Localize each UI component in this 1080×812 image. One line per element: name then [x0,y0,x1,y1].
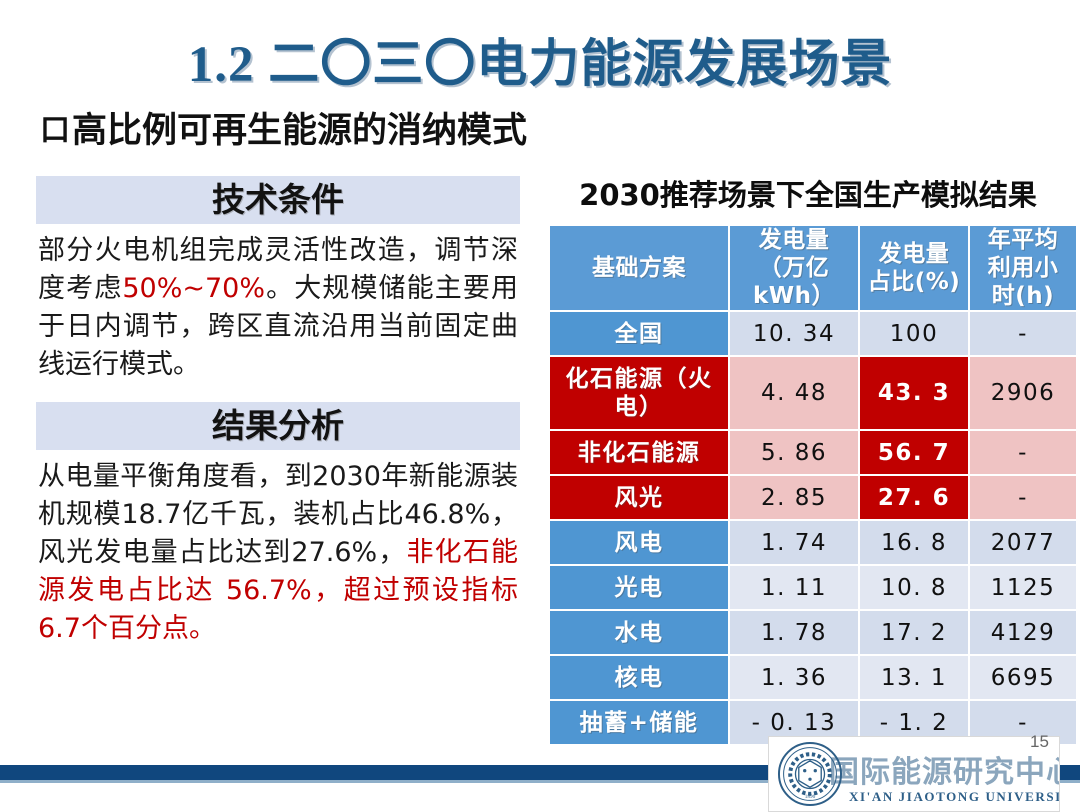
cell-generation: 4. 48 [730,357,858,429]
column-header-scheme: 基础方案 [550,226,728,310]
result-analysis-header: 结果分析 [36,402,520,450]
table-row: 全国10. 34100- [550,312,1076,355]
tech-conditions-header: 技术条件 [36,176,520,224]
cell-share: 43. 3 [860,357,968,429]
cell-generation: 1. 11 [730,566,858,609]
cell-generation: 1. 78 [730,611,858,654]
panel-spacer [36,384,520,402]
table-row: 化石能源（火电）4. 4843. 32906 [550,357,1076,429]
cell-hours: - [970,476,1076,519]
svg-text:1896: 1896 [805,794,816,800]
row-label: 风光 [550,476,728,519]
cell-generation: 2. 85 [730,476,858,519]
table-row: 水电1. 7817. 24129 [550,611,1076,654]
tech-body-highlight: 50%~70% [122,273,265,304]
cell-share: 56. 7 [860,431,968,474]
row-label: 非化石能源 [550,431,728,474]
result-analysis-body: 从电量平衡角度看，到2030年新能源装机规模18.7亿千瓦，装机占比46.8%，… [36,450,520,648]
right-column: 2030推荐场景下全国生产模拟结果 基础方案 发电量 （万亿 kWh） 发电量 [548,172,1068,746]
row-label: 水电 [550,611,728,654]
table-title: 2030推荐场景下全国生产模拟结果 [548,172,1068,214]
slide-root: 1.2 二〇三〇电力能源发展场景 口高比例可再生能源的消纳模式 技术条件 部分火… [0,0,1080,810]
cell-share: 16. 8 [860,521,968,564]
table-body: 全国10. 34100-化石能源（火电）4. 4843. 32906非化石能源5… [550,312,1076,744]
column-header-hours: 年平均 利用小 时(h) [970,226,1076,310]
table-header-row: 基础方案 发电量 （万亿 kWh） 发电量 占比(%) 年平均 利用小 时( [550,226,1076,310]
cell-hours: 2906 [970,357,1076,429]
table-row: 非化石能源5. 8656. 7- [550,431,1076,474]
table-row: 风光2. 8527. 6- [550,476,1076,519]
cell-share: 100 [860,312,968,355]
page-title: 1.2 二〇三〇电力能源发展场景 [0,22,1080,96]
table-row: 光电1. 1110. 81125 [550,566,1076,609]
logo-chinese-text: 国际能源研究中心 [829,747,1060,791]
table-row: 核电1. 3613. 16695 [550,656,1076,699]
cell-share: 10. 8 [860,566,968,609]
simulation-results-table: 基础方案 发电量 （万亿 kWh） 发电量 占比(%) 年平均 利用小 时( [548,224,1078,746]
row-label: 光电 [550,566,728,609]
university-logo: 1896 国际能源研究中心 XI'AN JIAOTONG UNIVERSITY [768,736,1060,812]
column-header-generation: 发电量 （万亿 kWh） [730,226,858,310]
slide-subtitle-text: 高比例可再生能源的消纳模式 [72,111,527,151]
cell-hours: 6695 [970,656,1076,699]
cell-hours: - [970,312,1076,355]
cell-generation: 1. 74 [730,521,858,564]
row-label: 全国 [550,312,728,355]
cell-generation: 1. 36 [730,656,858,699]
cell-generation: 10. 34 [730,312,858,355]
cell-hours: 2077 [970,521,1076,564]
cell-share: 13. 1 [860,656,968,699]
left-column: 技术条件 部分火电机组完成灵活性改造，调节深度考虑50%~70%。大规模储能主要… [36,176,520,648]
row-label: 风电 [550,521,728,564]
cell-hours: - [970,431,1076,474]
row-label: 化石能源（火电） [550,357,728,429]
slide-subtitle: 口高比例可再生能源的消纳模式 [40,102,527,153]
cell-generation: 5. 86 [730,431,858,474]
logo-english-text: XI'AN JIAOTONG UNIVERSITY [849,789,1060,805]
cell-share: 27. 6 [860,476,968,519]
table-row: 风电1. 7416. 82077 [550,521,1076,564]
page-number: 15 [1030,732,1049,752]
cell-hours: 1125 [970,566,1076,609]
row-label: 抽蓄+储能 [550,701,728,744]
square-bullet-icon: 口 [40,105,70,149]
row-label: 核电 [550,656,728,699]
cell-share: 17. 2 [860,611,968,654]
tech-conditions-body: 部分火电机组完成灵活性改造，调节深度考虑50%~70%。大规模储能主要用于日内调… [36,224,520,384]
column-header-share: 发电量 占比(%) [860,226,968,310]
cell-hours: 4129 [970,611,1076,654]
